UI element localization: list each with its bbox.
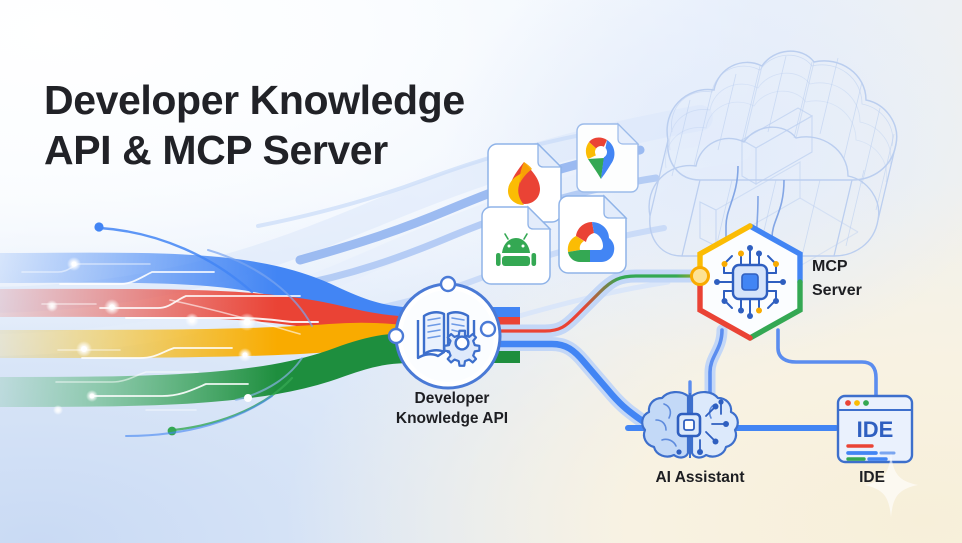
label-mcp-server: MCP Server (812, 255, 962, 303)
window-dot-yellow (854, 400, 860, 406)
label-developer-knowledge-api: Developer Knowledge API (328, 389, 576, 429)
ide-screen-text: IDE (857, 417, 894, 442)
window-dot-red (845, 400, 851, 406)
page-title: Developer Knowledge API & MCP Server (44, 75, 465, 175)
label-ide: IDE (812, 468, 932, 488)
illustration-canvas: IDE Developer Knowledge API & MCP Server… (0, 0, 962, 543)
window-dot-green (863, 400, 869, 406)
label-ai-assistant: AI Assistant (592, 468, 808, 488)
